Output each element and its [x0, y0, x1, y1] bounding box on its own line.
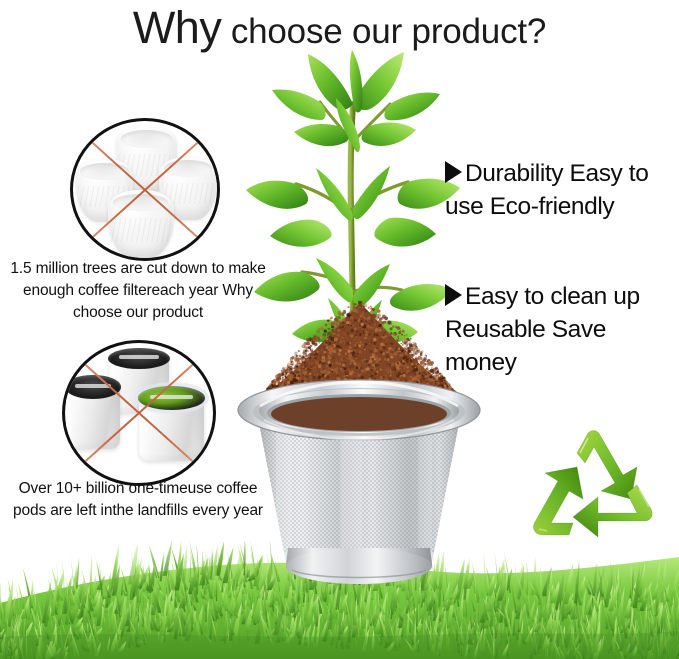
page-title-emphasis: Why — [133, 2, 222, 53]
page-title: Why choose our product? — [0, 2, 679, 54]
benefit-item-durability-label: Durability Easy to use Eco-friendly — [445, 160, 648, 220]
badge-single-use-pods-caption: Over 10+ billion one-timeuse coffee pods… — [8, 478, 268, 522]
recycle-icon — [525, 423, 661, 549]
infographic-canvas: Why choose our product? — [0, 0, 679, 659]
badge-paper-filters-caption: 1.5 million trees are cut down to make e… — [8, 258, 268, 324]
page-title-remainder: choose our product? — [221, 12, 546, 51]
k-cup-pod-icon — [139, 391, 204, 461]
benefit-item-reusable: Easy to clean up Reusable Save money — [445, 280, 677, 379]
badge-paper-filters-image — [73, 121, 217, 258]
benefit-item-durability: Durability Easy to use Eco-friendly — [445, 157, 677, 223]
recycle-arrow-left — [533, 467, 583, 535]
paper-filter-icon — [108, 190, 174, 259]
benefit-item-reusable-label: Easy to clean up Reusable Save money — [445, 283, 640, 376]
badge-paper-filters — [70, 118, 220, 261]
right-triangle-bullet-icon — [445, 161, 462, 183]
badge-single-use-pods-image — [65, 343, 213, 483]
badge-single-use-pods — [62, 340, 216, 486]
k-cup-pod-icon — [66, 379, 119, 449]
reusable-coffee-filter-product — [236, 366, 482, 604]
right-triangle-bullet-icon — [445, 284, 462, 306]
